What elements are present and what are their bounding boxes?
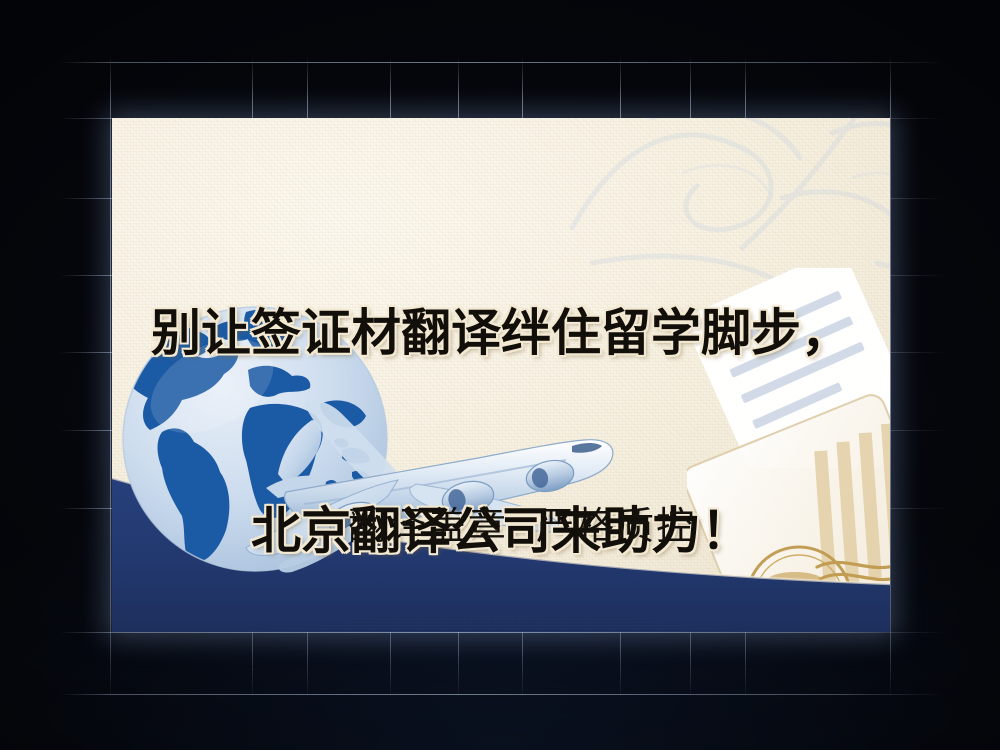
slide-canvas: 别让签证材翻译绊住留学脚步， 北京翻译公司来助力！ 翻译盖章 严格质控 xyxy=(0,0,1000,750)
grid-line-horizontal xyxy=(60,694,945,695)
grid-line-vertical xyxy=(890,56,891,700)
calligraphy-watermark-icon xyxy=(532,118,890,298)
grid-line-horizontal xyxy=(60,62,945,63)
grid-line-vertical xyxy=(110,56,111,700)
grid-line-horizontal xyxy=(60,632,945,633)
airplane-icon xyxy=(220,380,640,580)
poster-card: 别让签证材翻译绊住留学脚步， 北京翻译公司来助力！ 翻译盖章 严格质控 xyxy=(112,118,890,632)
document-sheet-icon xyxy=(672,268,890,468)
stamped-document-icon xyxy=(687,383,890,632)
